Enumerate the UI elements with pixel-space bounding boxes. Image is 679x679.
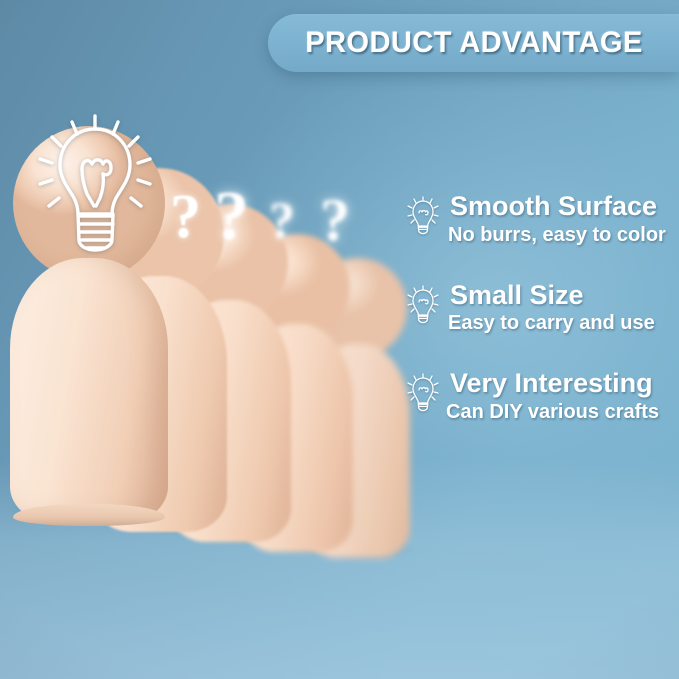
feature-item-smooth-surface: Smooth Surface No burrs, easy to color [406, 192, 679, 247]
lightbulb-icon [406, 285, 440, 325]
lightbulb-icon [406, 373, 440, 413]
title-banner: PRODUCT ADVANTAGE [268, 14, 679, 72]
feature-title: Small Size [450, 281, 679, 311]
feature-list: Smooth Surface No burrs, easy to color [406, 192, 679, 458]
feature-title: Smooth Surface [450, 192, 679, 222]
feature-subtitle: No burrs, easy to color [448, 224, 679, 247]
feature-subtitle: Can DIY various crafts [446, 401, 679, 424]
feature-title: Very Interesting [450, 369, 679, 399]
feature-subtitle: Easy to carry and use [448, 312, 679, 335]
lightbulb-icon [32, 112, 158, 254]
lightbulb-icon [406, 196, 440, 236]
question-mark-2: ? [214, 182, 249, 252]
feature-item-very-interesting: Very Interesting Can DIY various crafts [406, 369, 679, 424]
question-mark-1: ? [170, 186, 201, 248]
question-mark-3: ? [269, 196, 295, 248]
feature-item-small-size: Small Size Easy to carry and use [406, 281, 679, 336]
product-advantage-infographic: ? ? ? ? PRODUCT ADVANTAGE [0, 0, 679, 679]
question-mark-4: ? [320, 190, 350, 250]
page-title: PRODUCT ADVANTAGE [305, 26, 642, 60]
